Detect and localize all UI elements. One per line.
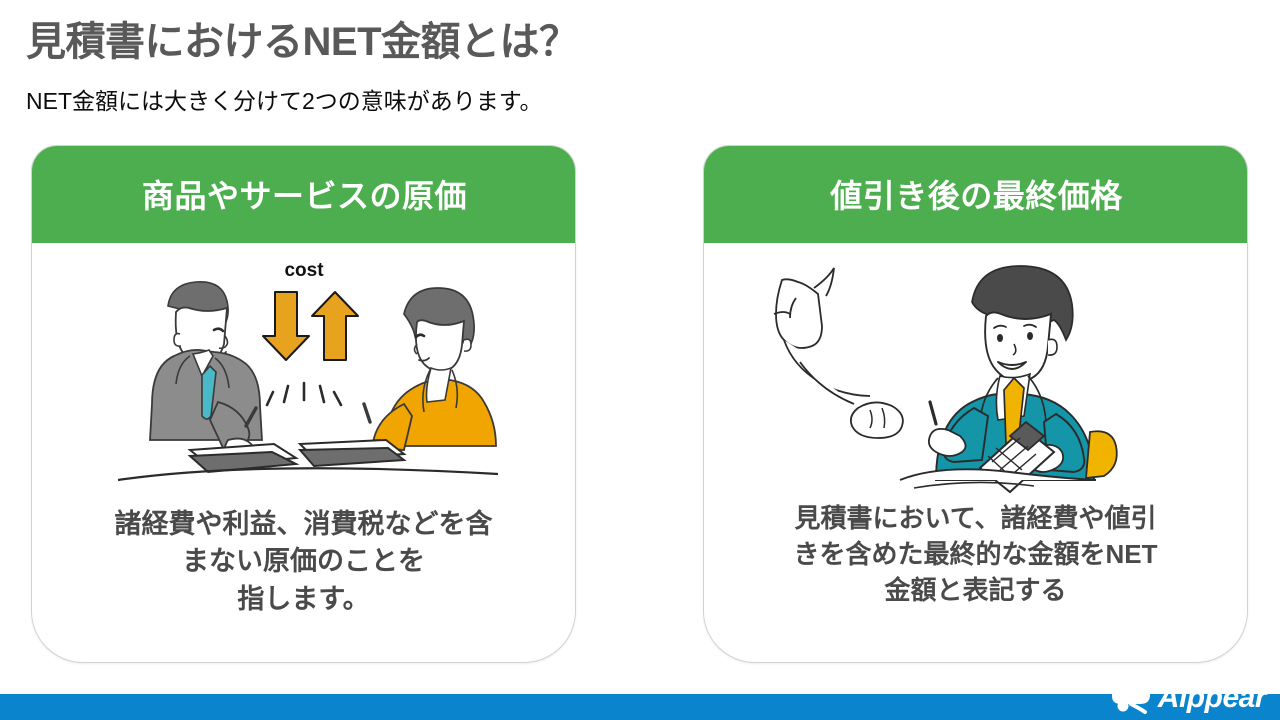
- clipboard-right: [300, 440, 404, 466]
- footer-bar: [0, 694, 1280, 720]
- customer-hands: [774, 268, 870, 404]
- card-cost-header: 商品やサービスの原価: [31, 145, 576, 243]
- woman-orange-jacket: [357, 288, 496, 458]
- emphasis-lines-icon: [267, 383, 341, 405]
- customer-fist: [851, 402, 903, 438]
- page-subtitle: NET金額には大きく分けて2つの意味があります。: [26, 82, 543, 116]
- page-title: 見積書におけるNET金額とは？: [26, 9, 579, 67]
- card-final-price-body: 見積書において、諸経費や値引 きを含めた最終的な金額をNET 金額と表記する: [722, 501, 1229, 609]
- brand-logo[interactable]: Aippear: [1109, 682, 1266, 714]
- card-cost: 商品やサービスの原価 cost: [31, 145, 576, 663]
- card-final-price: 値引き後の最終価格: [703, 145, 1248, 663]
- chair: [1086, 431, 1117, 478]
- cost-label: cost: [284, 260, 324, 281]
- up-arrow-icon: [312, 292, 358, 360]
- two-people-at-desk-illustration: cost: [32, 244, 575, 502]
- brand-logo-text: Aippear: [1158, 683, 1266, 713]
- card-cost-body: 諸経費や利益、消費税などを含 まない原価のことを 指します。: [56, 506, 551, 618]
- salesman-with-calculator-illustration: [704, 244, 1247, 502]
- card-final-price-header: 値引き後の最終価格: [703, 145, 1248, 243]
- man-gray-suit: [150, 282, 262, 458]
- card-cost-header-label: 商品やサービスの原価: [142, 171, 467, 217]
- pen: [930, 402, 936, 424]
- down-arrow-icon: [263, 292, 309, 360]
- card-final-price-header-label: 値引き後の最終価格: [830, 171, 1123, 217]
- cloud-icon: [1109, 682, 1155, 714]
